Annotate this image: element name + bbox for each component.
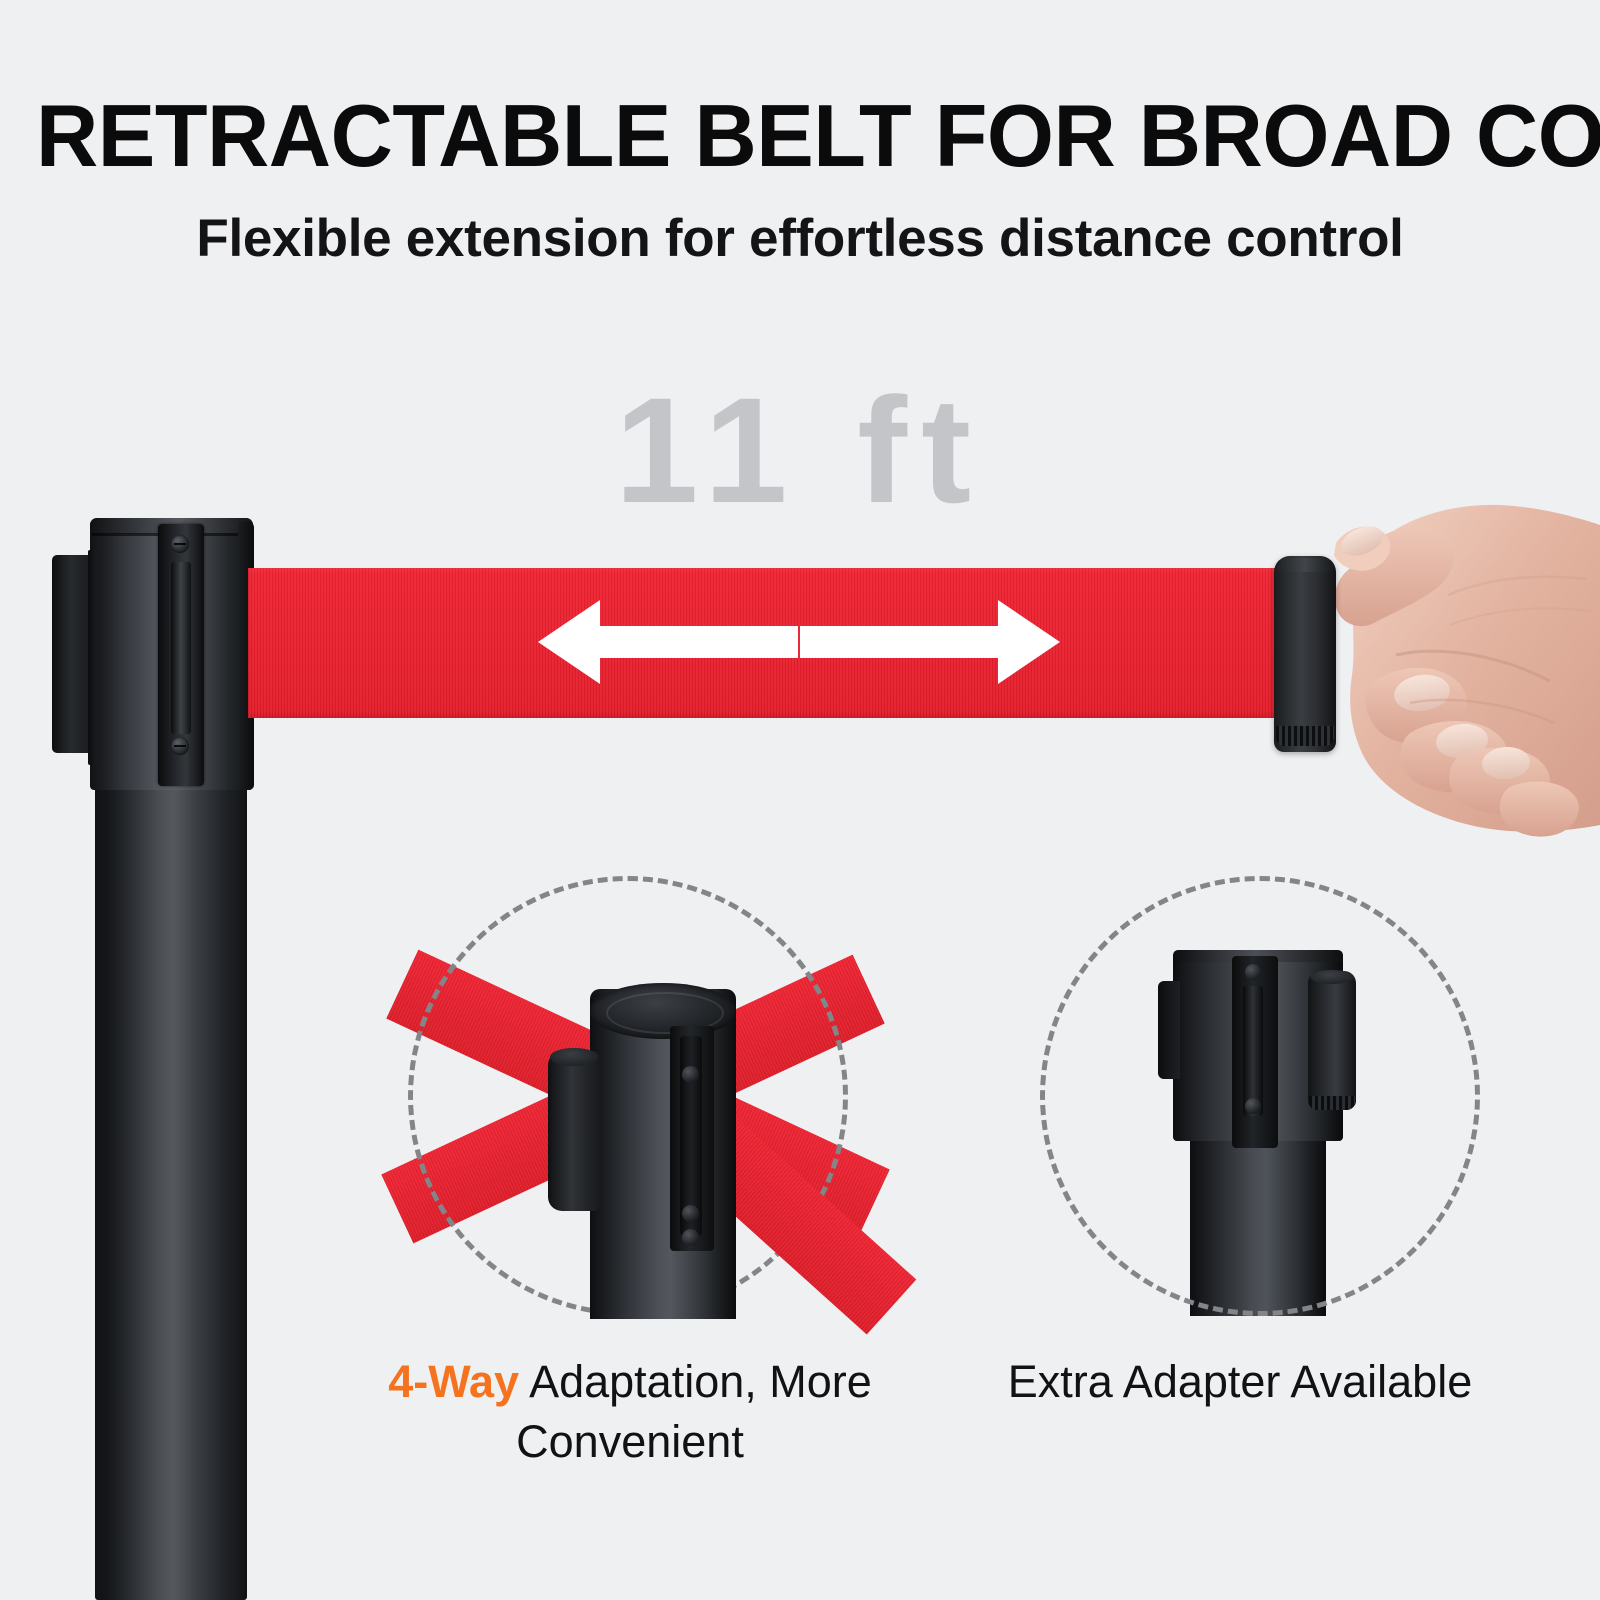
arrow-right-icon	[800, 600, 1060, 684]
belt-exit-slot	[171, 562, 191, 734]
page-title: RETRACTABLE BELT FOR BROAD COVERAGE	[36, 88, 1545, 184]
belt-end-clip-top	[1277, 558, 1333, 572]
caption-four-way: 4-Way Adaptation, More Convenient	[310, 1352, 950, 1472]
screw-icon	[682, 1229, 699, 1246]
post-top-cap	[590, 983, 736, 1039]
post-side-adapter	[548, 1051, 600, 1211]
page-subtitle: Flexible extension for effortless distan…	[0, 208, 1600, 270]
caption-text: Adaptation, More Convenient	[516, 1356, 872, 1467]
screw-icon	[682, 1205, 699, 1222]
caption-highlight: 4-Way	[388, 1356, 519, 1407]
post-shaft	[95, 755, 247, 1600]
screw-icon	[171, 737, 189, 755]
screw-icon	[171, 535, 189, 553]
arrow-left-icon	[538, 600, 798, 684]
marketing-image-canvas: RETRACTABLE BELT FOR BROAD COVERAGE Flex…	[0, 0, 1600, 1600]
caption-extra-adapter: Extra Adapter Available	[1000, 1352, 1480, 1412]
post-side-adapter-cap	[550, 1048, 598, 1066]
belt-end-clip-ridges	[1276, 726, 1334, 746]
belt-end-clip	[1274, 556, 1336, 752]
hand-holding-clip	[1300, 495, 1600, 840]
dashed-circle-outline	[1040, 876, 1480, 1316]
detail-circle-four-way	[408, 876, 848, 1316]
screw-icon	[682, 1066, 699, 1083]
detail-circle-extra-adapter	[1040, 876, 1480, 1316]
post-clip-edge	[88, 550, 97, 765]
